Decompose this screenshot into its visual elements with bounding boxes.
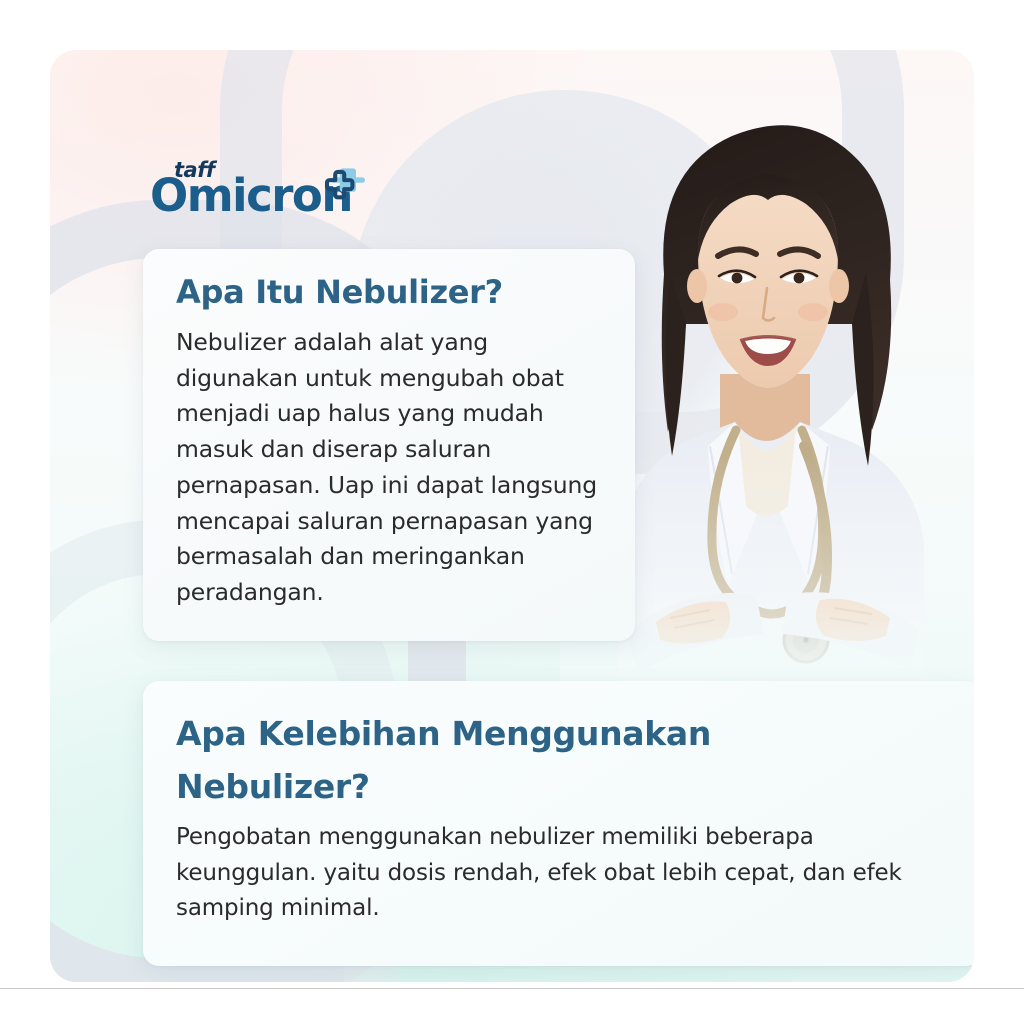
info-card-what-is-nebulizer: Apa Itu Nebulizer? Nebulizer adalah alat… [143, 249, 635, 641]
brand-logo: taff Omicron [150, 158, 380, 226]
card-title: Apa Itu Nebulizer? [176, 273, 503, 311]
card-title: Apa Kelebihan Menggunakan Nebulizer? [176, 707, 876, 814]
plus-cross-icon [324, 165, 370, 211]
brand-wordmark-omicron: Omicron [150, 173, 352, 218]
poster-canvas: taff Omicron Apa Itu Nebulizer? Nebulize… [50, 50, 974, 982]
card-body-text: Nebulizer adalah alat yang digunakan unt… [176, 325, 616, 611]
card-body-text: Pengobatan menggunakan nebulizer memilik… [176, 820, 946, 927]
poster-page: taff Omicron Apa Itu Nebulizer? Nebulize… [0, 0, 1024, 1024]
bottom-divider [0, 988, 1024, 989]
info-card-nebulizer-benefits: Apa Kelebihan Menggunakan Nebulizer? Pen… [143, 681, 974, 966]
